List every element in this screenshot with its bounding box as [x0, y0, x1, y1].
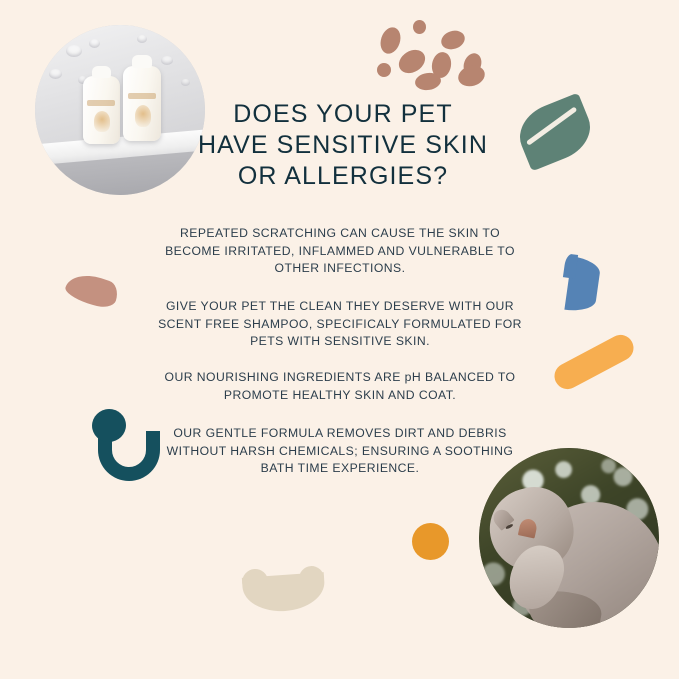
paragraph-4-line-2: WITHOUT HARSH CHEMICALS; ENSURING A SOOT…: [150, 443, 530, 461]
shampoo-bottle-right: [123, 66, 160, 141]
headline-line-3: OR ALLERGIES?: [186, 161, 500, 192]
paragraph-4-line-3: BATH TIME EXPERIENCE.: [150, 460, 530, 478]
pebble-shape: [456, 63, 487, 90]
beige-crescent-shape: [242, 572, 326, 614]
paragraph-3-line-2: PROMOTE HEALTHY SKIN AND COAT.: [150, 387, 530, 405]
paragraph-4-line-1: OUR GENTLE FORMULA REMOVES DIRT AND DEBR…: [150, 425, 530, 443]
bottle-artwork: [135, 105, 151, 127]
paragraph-1: REPEATED SCRATCHING CAN CAUSE THE SKIN T…: [150, 225, 530, 278]
paragraph-2-line-2: SCENT FREE SHAMPOO, SPECIFICALY FORMULAT…: [150, 316, 530, 334]
pebble-shape: [377, 63, 391, 77]
bubble-icon: [161, 56, 173, 65]
paragraph-1-line-3: OTHER INFECTIONS.: [150, 260, 530, 278]
shampoo-bottles-photo: [35, 25, 205, 195]
orange-dot-shape: [412, 523, 449, 560]
page-title: DOES YOUR PET HAVE SENSITIVE SKIN OR ALL…: [186, 99, 500, 192]
paragraph-2-line-3: PETS WITH SENSITIVE SKIN.: [150, 333, 530, 351]
shampoo-bottle-left: [83, 76, 120, 144]
bubble-icon: [89, 39, 100, 48]
pebble-shape: [414, 71, 442, 91]
leaf-body: [511, 93, 599, 172]
headline-line-1: DOES YOUR PET: [186, 99, 500, 130]
paragraph-1-line-2: BECOME IRRITATED, INFLAMMED AND VULNERAB…: [150, 243, 530, 261]
pebble-shape: [377, 25, 403, 57]
bubble-icon: [49, 69, 62, 79]
bottle-cap: [92, 66, 111, 78]
bottle-artwork: [94, 111, 110, 131]
bottle-cap: [132, 55, 151, 68]
paragraph-1-line-1: REPEATED SCRATCHING CAN CAUSE THE SKIN T…: [150, 225, 530, 243]
bottle-label: [87, 100, 115, 105]
headline-line-2: HAVE SENSITIVE SKIN: [186, 130, 500, 161]
paragraph-2: GIVE YOUR PET THE CLEAN THEY DESERVE WIT…: [150, 298, 530, 351]
cat-ear-right: [517, 517, 537, 538]
paragraph-3-line-1: OUR NOURISHING INGREDIENTS ARE pH BALANC…: [150, 369, 530, 387]
rose-teardrop-shape: [63, 269, 121, 312]
paragraph-2-line-1: GIVE YOUR PET THE CLEAN THEY DESERVE WIT…: [150, 298, 530, 316]
poster-canvas: DOES YOUR PET HAVE SENSITIVE SKIN OR ALL…: [0, 0, 679, 679]
bathroom-wall: [35, 25, 205, 147]
pebble-shape: [413, 20, 426, 34]
leaf-shape: [511, 93, 599, 172]
paragraph-4: OUR GENTLE FORMULA REMOVES DIRT AND DEBR…: [150, 425, 530, 478]
orange-bar-shape: [550, 330, 638, 393]
bottle-label: [128, 93, 156, 99]
pebble-shape: [439, 28, 467, 53]
blue-crescent-shape: [564, 256, 601, 314]
paragraph-3: OUR NOURISHING INGREDIENTS ARE pH BALANC…: [150, 369, 530, 404]
